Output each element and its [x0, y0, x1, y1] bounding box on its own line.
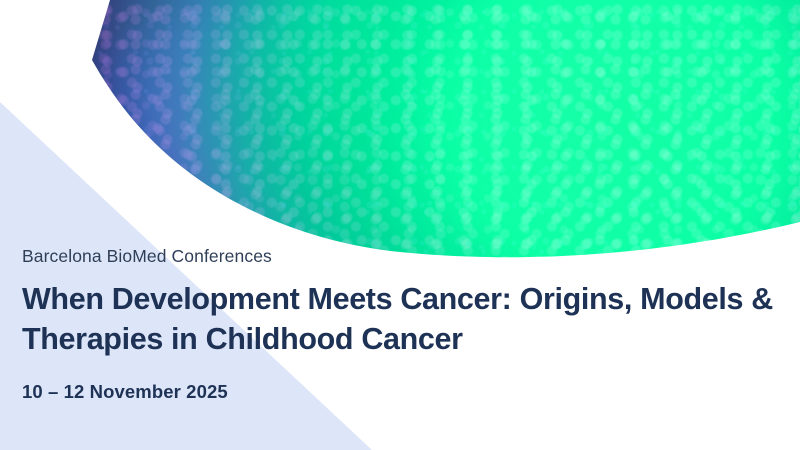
conference-series-label: Barcelona BioMed Conferences	[22, 246, 792, 267]
event-date: 10 – 12 November 2025	[22, 381, 792, 403]
page-title: When Development Meets Cancer: Origins, …	[22, 279, 782, 360]
conference-banner: Barcelona BioMed Conferences When Develo…	[0, 0, 800, 450]
banner-text-block: Barcelona BioMed Conferences When Develo…	[22, 246, 792, 403]
